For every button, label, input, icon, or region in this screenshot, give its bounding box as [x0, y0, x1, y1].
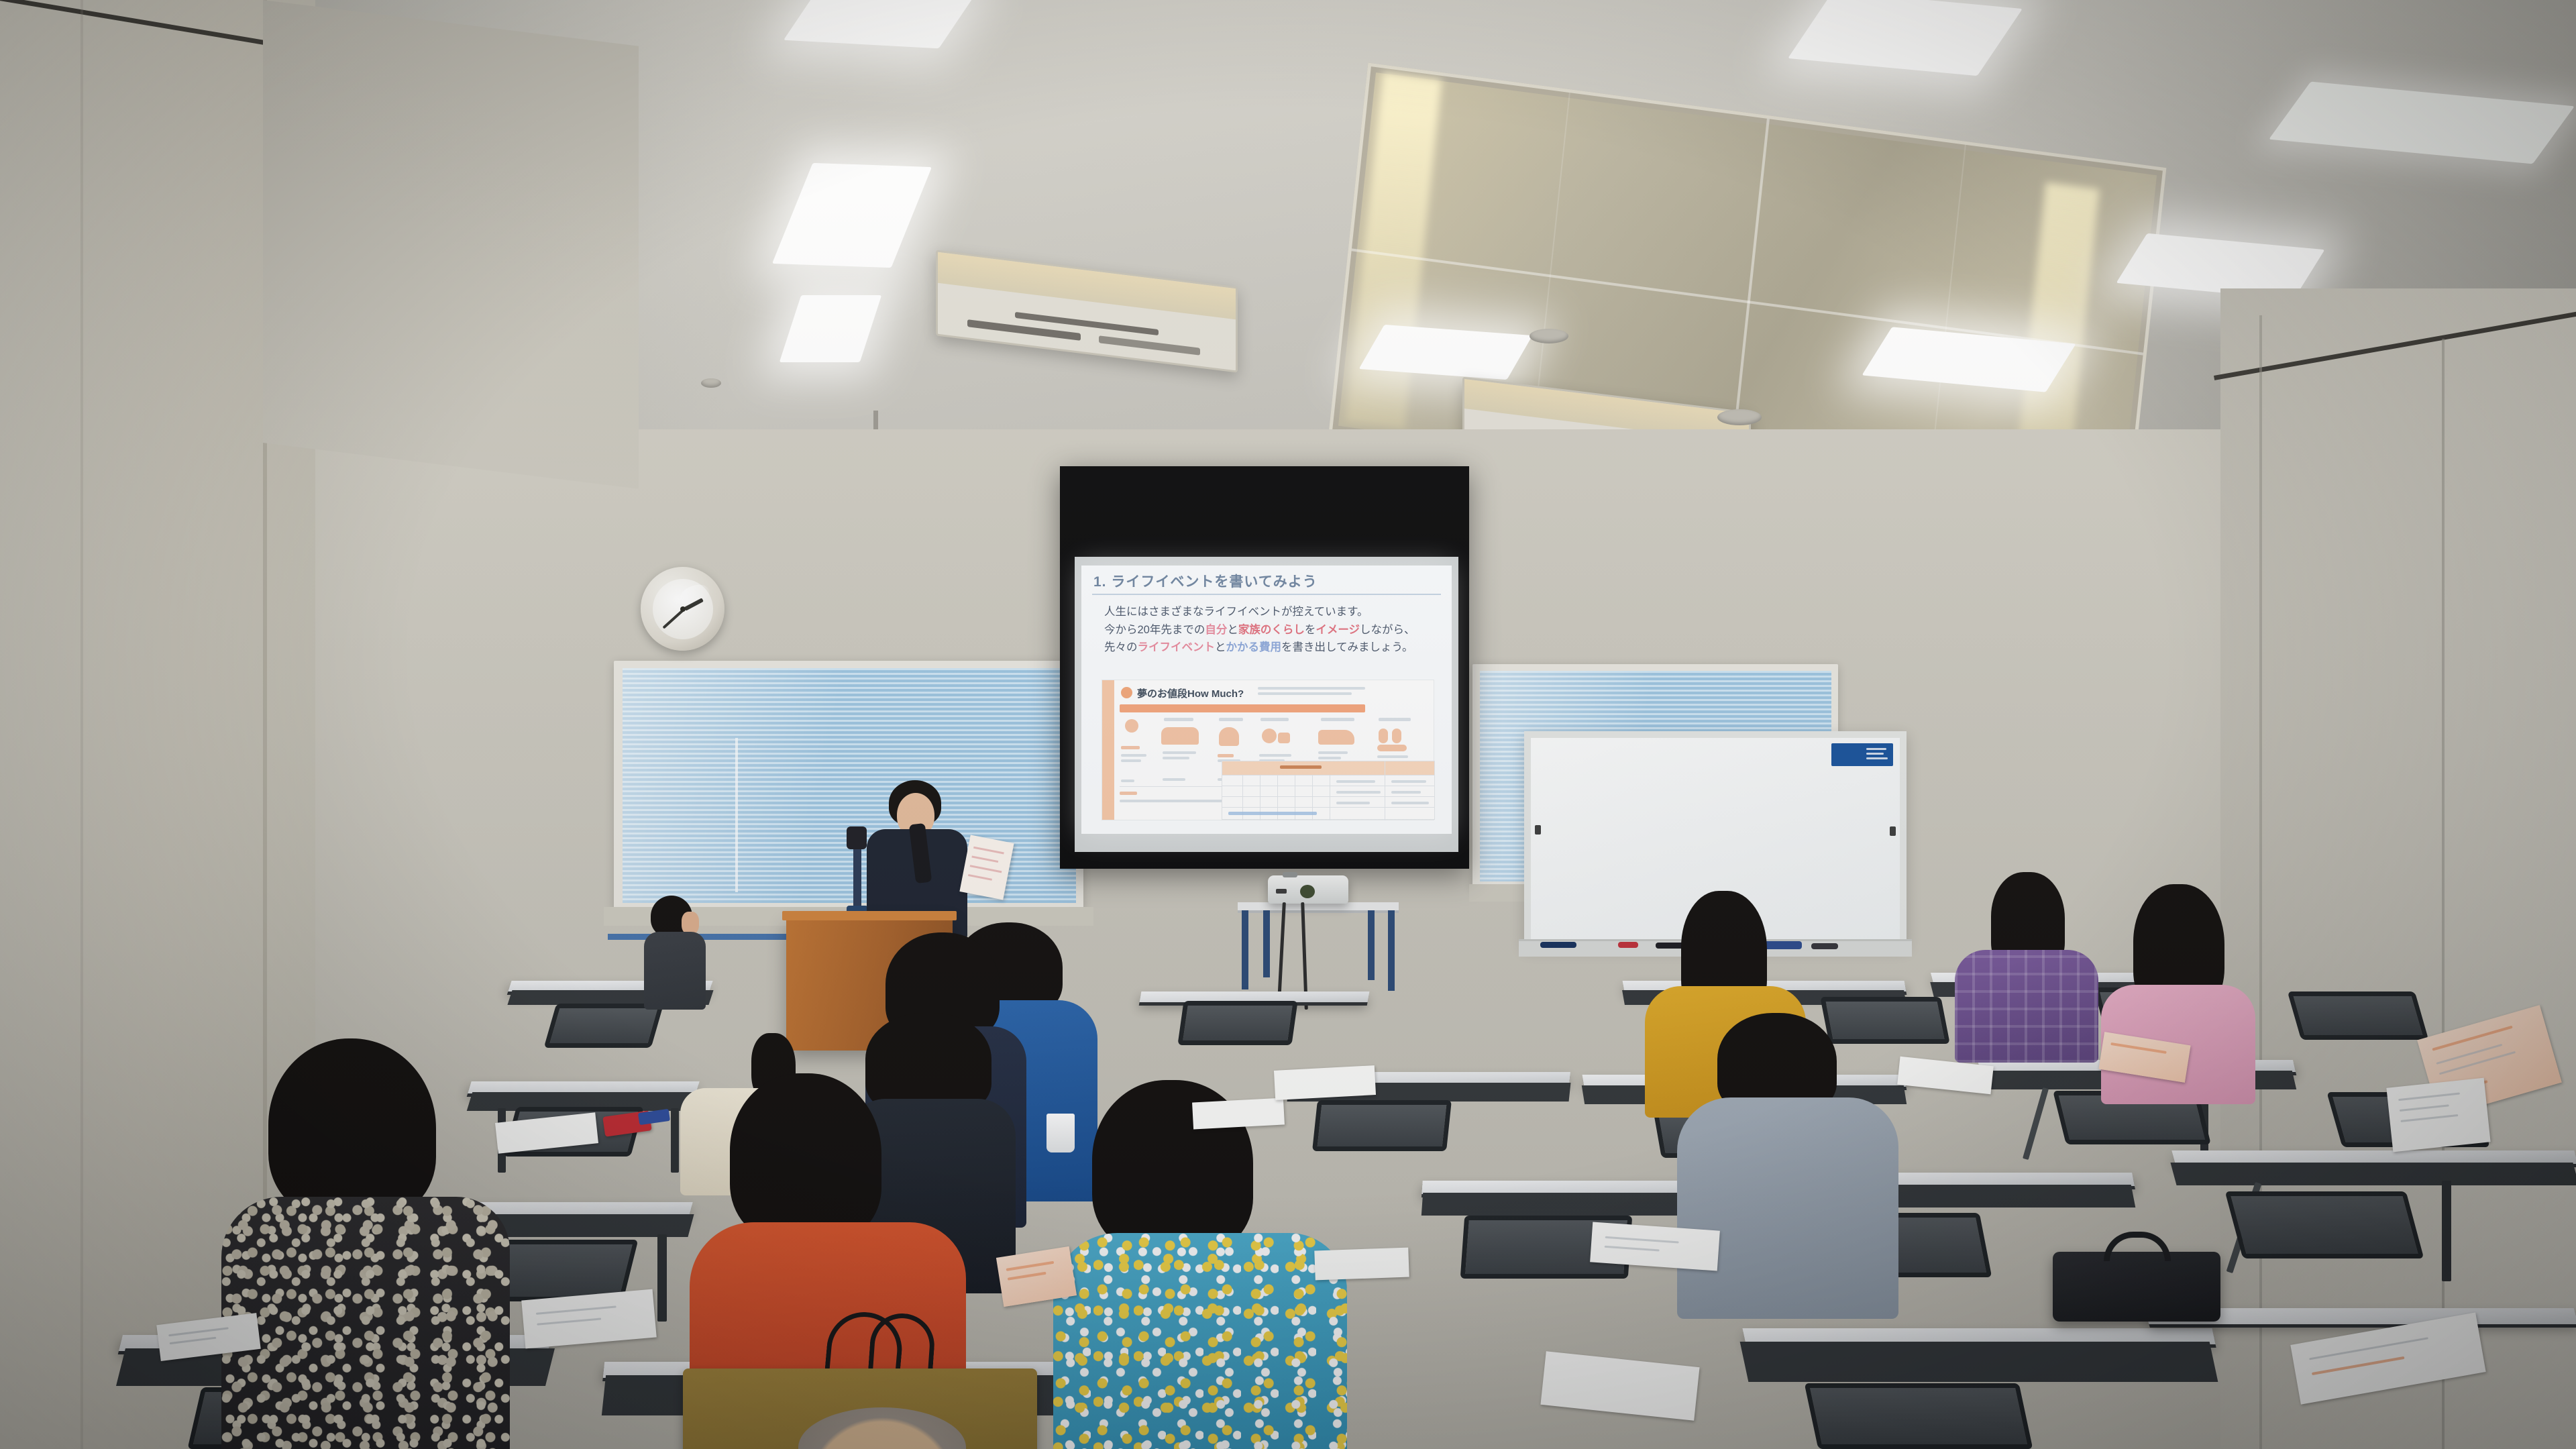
slide-line-3a: 先々の [1104, 641, 1138, 653]
whiteboard-marker-4[interactable] [1811, 943, 1838, 949]
slide-line-2d: 家族のくらし [1238, 624, 1305, 636]
desk-rowC-far-right [2171, 1150, 2576, 1164]
blind-cord-left[interactable] [735, 738, 738, 892]
handout-sheet-4[interactable] [1192, 1097, 1285, 1129]
projector-control-panel[interactable] [1283, 872, 1297, 877]
projector-table [1238, 902, 1399, 989]
slide-line-2e: を [1305, 624, 1316, 636]
whiteboard-magnet-left[interactable] [1535, 825, 1541, 835]
chair-empty-A3[interactable] [1820, 997, 1950, 1044]
wall-clock [641, 567, 724, 651]
window-sill-accent-left [608, 934, 809, 940]
ceiling-sprinkler-icon [701, 378, 721, 388]
chair-empty-A2[interactable] [1177, 1001, 1297, 1045]
chair-empty-A1[interactable] [544, 1004, 664, 1048]
whiteboard-marker-1[interactable] [1540, 942, 1576, 948]
chair-empty-B2[interactable] [1312, 1100, 1452, 1151]
handout-sheet-11[interactable] [1314, 1248, 1409, 1281]
left-wall-seam-2 [80, 0, 83, 1449]
right-wall-seam-1 [2259, 315, 2262, 1449]
presentation-slide: 1. ライフイベントを書いてみよう 人生にはさまざまなライフイベントが控えていま… [1081, 566, 1452, 834]
slide-line-3b: ライフイベント [1138, 641, 1216, 653]
chair-empty-A5[interactable] [2288, 991, 2429, 1040]
classroom-photo-scene: 1. ライフイベントを書いてみよう 人生にはさまざまなライフイベントが控えていま… [0, 0, 2576, 1449]
handout-orange-bar [1120, 704, 1365, 712]
slide-line-2f: イメージ [1316, 624, 1360, 636]
projector-lens-icon [1300, 885, 1315, 898]
whiteboard-marker-2[interactable] [1618, 942, 1638, 948]
desk-rowC-far-right-front [2170, 1163, 2576, 1185]
smoke-detector-icon [1529, 329, 1568, 343]
slide-table-overlay [1222, 761, 1435, 820]
slide-line-3c: と [1215, 641, 1226, 653]
chair-empty-D3[interactable] [1805, 1383, 2033, 1449]
whiteboard-magnet-right[interactable] [1890, 826, 1896, 836]
right-wall-seam-2 [2442, 339, 2445, 1449]
slide-line-2g: しながら、 [1360, 624, 1415, 636]
handout-sheet-8[interactable] [2386, 1078, 2490, 1152]
slide-line-2c: と [1227, 624, 1238, 636]
ceiling-speaker-icon [1717, 409, 1762, 425]
paper-cup [1046, 1114, 1075, 1152]
handout-bullet-icon [1121, 687, 1132, 698]
handout-sheet-5[interactable] [1274, 1065, 1376, 1100]
microphone-stand-head-icon [847, 826, 867, 849]
data-projector [1268, 875, 1348, 904]
left-wall-upper-band [263, 0, 639, 489]
clock-center-pin [680, 606, 686, 612]
slide-title: 1. ライフイベントを書いてみよう [1093, 571, 1318, 591]
desk-rowD-right-front [1740, 1342, 2218, 1382]
black-bag-on-desk [2053, 1252, 2220, 1322]
slide-body-text: 人生にはさまざまなライフイベントが控えています。 今から20年先までの自分と家族… [1104, 603, 1440, 657]
slide-title-rule [1092, 594, 1441, 595]
slide-line-3e: を書き出してみましょう。 [1281, 641, 1413, 653]
slide-line-2b: 自分 [1205, 624, 1227, 636]
whiteboard-label-sticker [1831, 743, 1893, 766]
slide-line-2a: 今から20年先までの [1104, 624, 1205, 636]
chair-empty-C4[interactable] [2225, 1191, 2424, 1258]
handout-title: 夢のお値段How Much? [1137, 686, 1244, 700]
slide-handout-graphic: 夢のお値段How Much? [1102, 680, 1434, 820]
slide-line-1: 人生にはさまざまなライフイベントが控えています。 [1104, 606, 1368, 618]
right-partition-wall [2220, 288, 2576, 1449]
table-header-label [1280, 765, 1322, 769]
slide-line-3d: かかる費用 [1226, 641, 1282, 653]
